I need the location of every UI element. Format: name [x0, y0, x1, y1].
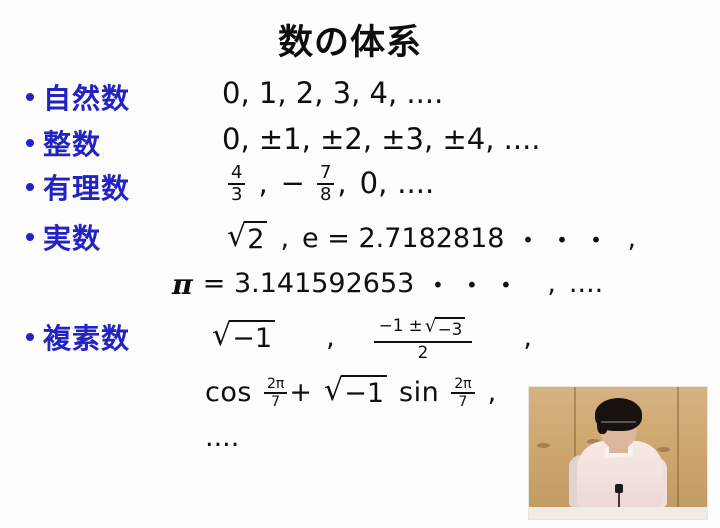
fraction-numerator: 7 [317, 164, 334, 185]
comma-separator: , [280, 223, 289, 254]
wall-knot [537, 443, 550, 448]
fraction-denominator: 7 [268, 394, 283, 409]
math-expression-complex-numbers-line1: √ −1 , −1 ±√−3 2 , [210, 316, 535, 360]
radical-sign-icon: √ [212, 321, 231, 356]
bullet-dot-icon [26, 233, 34, 241]
fraction-numerator: −1 ±√−3 [374, 317, 473, 343]
square-root-of-minus-three: √−3 [425, 317, 466, 340]
bullet-dot-icon [26, 93, 34, 101]
fraction-denominator: 2 [415, 343, 432, 361]
comma-separator: , [258, 166, 267, 200]
math-expression-integers: 0, ±1, ±2, ±3, ±4, .... [222, 122, 541, 156]
pi-value: = 3.141592653 [203, 268, 415, 299]
math-expression-complex-numbers-line2: cos 2π 7 + √ −1 sin 2π 7 , [205, 375, 499, 410]
radical-sign-icon: √ [425, 318, 437, 341]
fraction-seven-eighths: 7 8 [317, 164, 334, 205]
fraction-denominator: 7 [455, 394, 470, 409]
radicand: −3 [435, 317, 466, 340]
fraction-four-thirds: 4 3 [228, 164, 245, 205]
presenter-video-overlay[interactable] [528, 386, 708, 520]
lapel-microphone [615, 484, 623, 493]
zero-value: 0, [360, 166, 388, 200]
natural-numbers-sequence: 0, 1, 2, 3, 4, .... [222, 76, 443, 110]
fraction-primitive-cube-root: −1 ±√−3 2 [374, 317, 473, 361]
minus-sign: − [281, 166, 305, 200]
microphone-wire [618, 491, 620, 507]
bullet-dot-icon [26, 333, 34, 341]
bullet-dot-icon [26, 183, 34, 191]
square-root-of-minus-one-2: √ −1 [324, 375, 387, 410]
bullet-label-text: 整数 [43, 123, 101, 163]
bullet-dot-icon [26, 139, 34, 147]
ellipsis: .... [205, 422, 239, 453]
wall-panel-seam [677, 387, 679, 519]
cosine-function: cos [205, 377, 252, 408]
fraction-two-pi-over-seven-cos: 2π 7 [264, 377, 287, 410]
fraction-denominator: 8 [317, 185, 334, 204]
bullet-label-text: 実数 [43, 217, 101, 257]
comma-separator: , [627, 223, 636, 254]
bullet-label-text: 複素数 [43, 317, 130, 357]
comma-separator: , [326, 322, 335, 353]
bullet-label-rational-numbers: 有理数 [26, 167, 130, 207]
integers-sequence: 0, ±1, ±2, ±3, ±4, .... [222, 122, 541, 156]
radical-sign-icon: √ [324, 376, 343, 411]
comma-separator: , [547, 268, 556, 299]
floor-strip [529, 507, 707, 519]
fraction-numerator: 4 [228, 164, 245, 185]
math-expression-rational-numbers: 4 3 , − 7 8 , 0, .... [226, 163, 434, 204]
square-root-of-two: √ 2 [227, 221, 267, 256]
middle-dots-ellipsis: ・・・ [424, 264, 526, 303]
ellipsis: .... [569, 268, 603, 299]
radicand: 2 [244, 221, 267, 256]
ellipsis: .... [397, 166, 434, 200]
comma-separator: , [523, 322, 532, 353]
pi-symbol: π [172, 267, 193, 301]
numerator-prefix: −1 ± [379, 315, 423, 335]
math-expression-complex-numbers-line3: .... [205, 422, 239, 453]
math-expression-natural-numbers: 0, 1, 2, 3, 4, .... [222, 76, 443, 110]
bullet-label-complex-numbers: 複素数 [26, 317, 130, 357]
comma-separator: , [337, 166, 346, 200]
radicand: −1 [341, 375, 387, 410]
middle-dots-ellipsis: ・・・ [514, 219, 616, 258]
radicand: −1 [229, 320, 275, 355]
radical-sign-icon: √ [227, 222, 246, 257]
glasses-icon [601, 421, 636, 431]
sine-function: sin [399, 377, 439, 408]
wall-knot [657, 447, 670, 452]
bullet-label-text: 有理数 [43, 167, 130, 207]
comma-separator: , [488, 377, 497, 408]
fraction-numerator: 2π [264, 377, 287, 394]
math-expression-real-numbers-line1: √ 2 , e = 2.7182818 ・・・ , [225, 219, 639, 258]
fraction-denominator: 3 [228, 185, 245, 204]
math-expression-real-numbers-line2: π = 3.141592653 ・・・ , .... [172, 264, 603, 303]
square-root-of-minus-one: √ −1 [212, 320, 275, 355]
fraction-two-pi-over-seven-sin: 2π 7 [451, 377, 474, 410]
page-title: 数の体系 [0, 14, 700, 65]
bullet-label-integers: 整数 [26, 123, 101, 163]
fraction-numerator: 2π [451, 377, 474, 394]
plus-sign: + [289, 377, 312, 408]
bullet-label-text: 自然数 [43, 77, 130, 117]
euler-number-value: e = 2.7182818 [302, 223, 504, 254]
bullet-label-natural-numbers: 自然数 [26, 77, 130, 117]
bullet-label-real-numbers: 実数 [26, 217, 101, 257]
presentation-slide: 数の体系 自然数 0, 1, 2, 3, 4, .... 整数 0, ±1, ±… [0, 0, 720, 528]
